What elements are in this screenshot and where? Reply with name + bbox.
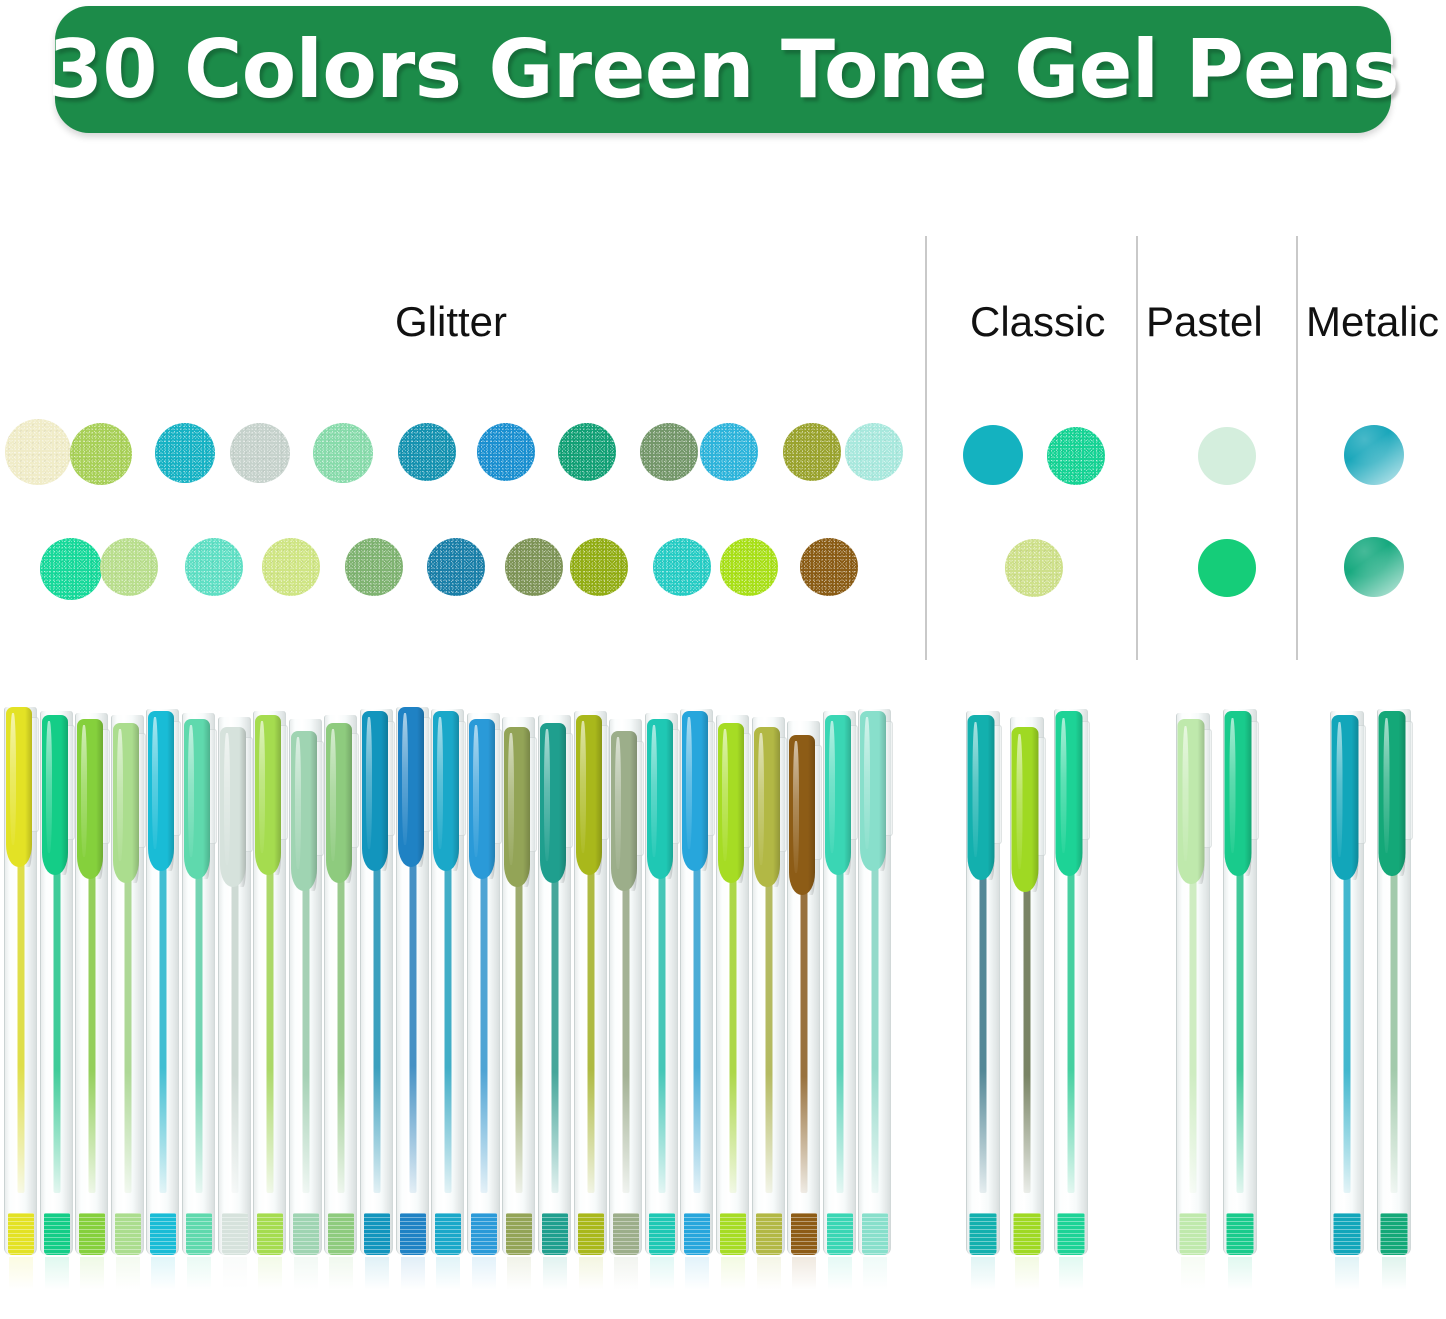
pen-glitter-9-cap: [291, 731, 317, 891]
pen-glitter-8: [253, 711, 286, 1255]
pen-glitter-9-reflection: [294, 1257, 318, 1299]
pen-glitter-17-end-plug: [578, 1213, 604, 1255]
pen-glitter-10-reflection: [329, 1257, 353, 1299]
pen-glitter-24-ink-tube: [836, 867, 843, 1193]
swatch-glitter-r1-10: [700, 423, 758, 481]
pen-glitter-18-ink-tube: [622, 883, 629, 1193]
pen-glitter-5: [146, 709, 179, 1255]
pen-glitter-12-ink-tube: [409, 859, 416, 1193]
pen-glitter-19-cap: [647, 719, 673, 879]
pen-pastel-2-ink-tube: [1237, 868, 1244, 1193]
pen-glitter-1-end-plug: [8, 1213, 34, 1255]
pen-glitter-24-end-plug: [827, 1213, 853, 1255]
pen-metalic-1: [1330, 711, 1364, 1255]
pen-glitter-1-ink-tube: [17, 859, 24, 1193]
pen-classic-3-cap: [1056, 711, 1083, 876]
pen-glitter-6-end-plug: [186, 1213, 212, 1255]
pen-metalic-2-cap: [1379, 711, 1406, 876]
pen-glitter-2-end-plug: [44, 1213, 70, 1255]
swatch-glitter-r2-8: [570, 538, 628, 596]
pen-glitter-11-end-plug: [364, 1213, 390, 1255]
category-label-metalic: Metalic: [1306, 298, 1439, 346]
pen-glitter-10: [324, 715, 357, 1255]
pen-glitter-11: [360, 709, 393, 1255]
pen-glitter-18: [609, 719, 642, 1255]
pen-glitter-1-reflection: [9, 1257, 33, 1299]
pen-glitter-12-end-plug: [400, 1213, 426, 1255]
pen-classic-2-end-plug: [1014, 1213, 1041, 1255]
pen-glitter-8-reflection: [258, 1257, 282, 1299]
pen-glitter-17-ink-tube: [587, 867, 594, 1193]
pen-glitter-2-ink-tube: [53, 867, 60, 1193]
divider-glitter-classic: [925, 236, 927, 660]
pen-glitter-23-reflection: [792, 1257, 816, 1299]
pen-pastel-2-cap: [1225, 711, 1252, 876]
pen-glitter-15-cap: [504, 727, 530, 887]
pen-glitter-22: [752, 717, 785, 1255]
pen-glitter-23-ink-tube: [800, 887, 807, 1193]
pen-glitter-20-reflection: [685, 1257, 709, 1299]
pen-glitter-13: [431, 709, 464, 1255]
header-banner: 30 Colors Green Tone Gel Pens: [55, 6, 1391, 133]
pen-glitter-3-cap: [77, 719, 103, 879]
pen-glitter-5-ink-tube: [159, 863, 166, 1193]
pen-glitter-9-end-plug: [293, 1213, 319, 1255]
pen-glitter-22-reflection: [757, 1257, 781, 1299]
pen-pastel-1-reflection: [1181, 1257, 1205, 1299]
swatch-classic-2: [1047, 427, 1105, 485]
pen-glitter-22-end-plug: [756, 1213, 782, 1255]
swatch-glitter-r1-11: [783, 423, 841, 481]
swatch-glitter-r2-6: [427, 538, 485, 596]
pen-classic-1-end-plug: [970, 1213, 997, 1255]
pen-glitter-17-reflection: [579, 1257, 603, 1299]
swatch-glitter-r1-3: [155, 423, 215, 483]
pen-glitter-23: [787, 721, 820, 1255]
swatch-glitter-r2-7: [505, 538, 563, 596]
pen-glitter-21-cap: [718, 723, 744, 883]
pen-glitter-5-reflection: [151, 1257, 175, 1299]
swatch-glitter-r1-8: [558, 423, 616, 481]
divider-pastel-metalic: [1296, 236, 1298, 660]
pen-metalic-2: [1377, 709, 1411, 1255]
pen-glitter-11-reflection: [365, 1257, 389, 1299]
swatch-glitter-r1-1: [5, 419, 71, 485]
pen-metalic-1-end-plug: [1334, 1213, 1361, 1255]
pen-glitter-19-reflection: [650, 1257, 674, 1299]
pen-glitter-13-end-plug: [435, 1213, 461, 1255]
swatch-glitter-r1-12: [845, 423, 903, 481]
page-title: 30 Colors Green Tone Gel Pens: [47, 23, 1398, 116]
pen-classic-1-reflection: [971, 1257, 995, 1299]
pen-glitter-3: [75, 713, 108, 1255]
swatch-glitter-r2-10: [720, 538, 778, 596]
swatch-glitter-r2-5: [345, 538, 403, 596]
pen-glitter-25-ink-tube: [871, 863, 878, 1193]
swatch-glitter-r2-2: [100, 538, 158, 596]
pen-glitter-25-cap: [860, 711, 886, 871]
pen-glitter-17: [574, 711, 607, 1255]
pen-glitter-12-cap: [398, 707, 424, 867]
divider-classic-pastel: [1136, 236, 1138, 660]
pen-glitter-4: [111, 715, 144, 1255]
pen-glitter-14-cap: [469, 719, 495, 879]
pen-glitter-20-end-plug: [684, 1213, 710, 1255]
pen-glitter-3-end-plug: [79, 1213, 105, 1255]
pen-metalic-1-ink-tube: [1344, 872, 1351, 1193]
pen-classic-2: [1010, 717, 1044, 1255]
pen-glitter-4-reflection: [116, 1257, 140, 1299]
pen-pastel-2: [1223, 709, 1257, 1255]
pen-glitter-7: [218, 717, 251, 1255]
pen-glitter-12-reflection: [401, 1257, 425, 1299]
swatch-classic-1: [963, 425, 1023, 485]
pen-glitter-15-reflection: [507, 1257, 531, 1299]
pen-glitter-20: [680, 709, 713, 1255]
pen-classic-2-ink-tube: [1024, 884, 1031, 1193]
pen-glitter-15-ink-tube: [515, 879, 522, 1193]
swatch-pastel-1: [1198, 427, 1256, 485]
pen-glitter-6-reflection: [187, 1257, 211, 1299]
pen-glitter-20-cap: [682, 711, 708, 871]
pen-glitter-1: [4, 707, 37, 1255]
pen-pastel-2-end-plug: [1227, 1213, 1254, 1255]
pen-glitter-11-ink-tube: [373, 863, 380, 1193]
pen-classic-3-reflection: [1059, 1257, 1083, 1299]
pen-glitter-16-reflection: [543, 1257, 567, 1299]
pen-classic-2-cap: [1012, 727, 1039, 892]
pen-glitter-11-cap: [362, 711, 388, 871]
pen-glitter-25: [858, 709, 891, 1255]
pen-glitter-17-cap: [576, 715, 602, 875]
swatch-glitter-r1-2: [70, 423, 132, 485]
swatch-glitter-r1-9: [640, 423, 698, 481]
pen-glitter-9-ink-tube: [302, 883, 309, 1193]
pen-glitter-18-reflection: [614, 1257, 638, 1299]
pen-glitter-21-reflection: [721, 1257, 745, 1299]
pen-glitter-25-end-plug: [862, 1213, 888, 1255]
pen-glitter-4-ink-tube: [124, 875, 131, 1193]
pen-glitter-3-ink-tube: [88, 871, 95, 1193]
pen-metalic-2-reflection: [1382, 1257, 1406, 1299]
pen-pastel-2-reflection: [1228, 1257, 1252, 1299]
pen-glitter-21: [716, 715, 749, 1255]
pen-classic-3: [1054, 709, 1088, 1255]
pen-classic-3-ink-tube: [1068, 868, 1075, 1193]
pen-glitter-12: [396, 707, 429, 1255]
pen-glitter-24: [823, 711, 856, 1255]
pen-glitter-4-end-plug: [115, 1213, 141, 1255]
pen-glitter-8-cap: [255, 715, 281, 875]
pen-pastel-1: [1176, 713, 1210, 1255]
pen-glitter-10-end-plug: [328, 1213, 354, 1255]
swatch-glitter-r1-6: [398, 423, 456, 481]
swatch-metalic-1: [1344, 425, 1404, 485]
pen-glitter-16-end-plug: [542, 1213, 568, 1255]
pen-glitter-23-cap: [789, 735, 815, 895]
pen-glitter-13-ink-tube: [444, 863, 451, 1193]
pen-glitter-6-cap: [184, 719, 210, 879]
pen-glitter-21-ink-tube: [729, 875, 736, 1193]
pen-glitter-16-cap: [540, 723, 566, 883]
pen-glitter-10-ink-tube: [337, 875, 344, 1193]
pen-glitter-25-reflection: [863, 1257, 887, 1299]
pen-glitter-2-cap: [42, 715, 68, 875]
pen-glitter-13-reflection: [436, 1257, 460, 1299]
pen-classic-3-end-plug: [1058, 1213, 1085, 1255]
swatch-glitter-r1-4: [230, 423, 290, 483]
pen-glitter-16: [538, 715, 571, 1255]
swatch-glitter-r2-11: [800, 538, 858, 596]
pen-glitter-2-reflection: [45, 1257, 69, 1299]
category-label-pastel: Pastel: [1146, 298, 1263, 346]
pen-glitter-20-ink-tube: [693, 863, 700, 1193]
pen-glitter-22-ink-tube: [765, 879, 772, 1193]
pen-metalic-1-reflection: [1335, 1257, 1359, 1299]
swatch-glitter-r2-4: [262, 538, 320, 596]
swatch-glitter-r2-3: [185, 538, 243, 596]
pen-glitter-7-cap: [220, 727, 246, 887]
pen-glitter-7-end-plug: [222, 1213, 248, 1255]
pen-glitter-18-cap: [611, 731, 637, 891]
pen-glitter-10-cap: [326, 723, 352, 883]
pen-glitter-8-ink-tube: [266, 867, 273, 1193]
pen-classic-1: [966, 711, 1000, 1255]
pen-glitter-21-end-plug: [720, 1213, 746, 1255]
swatch-classic-3: [1005, 539, 1063, 597]
pen-glitter-14-reflection: [472, 1257, 496, 1299]
pen-metalic-2-ink-tube: [1391, 868, 1398, 1193]
pen-glitter-22-cap: [754, 727, 780, 887]
pen-glitter-19: [645, 713, 678, 1255]
pen-glitter-19-ink-tube: [658, 871, 665, 1193]
category-label-glitter: Glitter: [395, 298, 507, 346]
pen-metalic-2-end-plug: [1381, 1213, 1408, 1255]
pen-glitter-2: [40, 711, 73, 1255]
pen-glitter-16-ink-tube: [551, 875, 558, 1193]
pen-glitter-8-end-plug: [257, 1213, 283, 1255]
pen-classic-1-ink-tube: [980, 872, 987, 1193]
swatch-metalic-2: [1344, 537, 1404, 597]
pen-glitter-15-end-plug: [506, 1213, 532, 1255]
pen-glitter-23-end-plug: [791, 1213, 817, 1255]
pen-glitter-6-ink-tube: [195, 871, 202, 1193]
pen-pastel-1-end-plug: [1180, 1213, 1207, 1255]
pen-metalic-1-cap: [1332, 715, 1359, 880]
pen-glitter-14-end-plug: [471, 1213, 497, 1255]
pen-glitter-1-cap: [6, 707, 32, 867]
pen-glitter-14: [467, 713, 500, 1255]
pen-pastel-1-cap: [1178, 719, 1205, 884]
pen-classic-1-cap: [968, 715, 995, 880]
pen-glitter-24-reflection: [828, 1257, 852, 1299]
pen-glitter-3-reflection: [80, 1257, 104, 1299]
pen-glitter-15: [502, 717, 535, 1255]
swatch-glitter-r1-5: [313, 423, 373, 483]
pen-glitter-9: [289, 719, 322, 1255]
pen-glitter-18-end-plug: [613, 1213, 639, 1255]
pen-glitter-14-ink-tube: [480, 871, 487, 1193]
pen-pastel-1-ink-tube: [1190, 876, 1197, 1193]
swatch-glitter-r2-1: [40, 538, 102, 600]
pen-glitter-7-reflection: [223, 1257, 247, 1299]
swatch-pastel-2: [1198, 539, 1256, 597]
pen-glitter-7-ink-tube: [231, 879, 238, 1193]
pen-glitter-5-cap: [148, 711, 174, 871]
pen-glitter-5-end-plug: [150, 1213, 176, 1255]
pen-glitter-24-cap: [825, 715, 851, 875]
category-label-classic: Classic: [970, 298, 1105, 346]
pen-glitter-4-cap: [113, 723, 139, 883]
swatch-glitter-r2-9: [653, 538, 711, 596]
swatch-glitter-r1-7: [477, 423, 535, 481]
pen-glitter-6: [182, 713, 215, 1255]
pen-classic-2-reflection: [1015, 1257, 1039, 1299]
pen-glitter-19-end-plug: [649, 1213, 675, 1255]
pen-glitter-13-cap: [433, 711, 459, 871]
